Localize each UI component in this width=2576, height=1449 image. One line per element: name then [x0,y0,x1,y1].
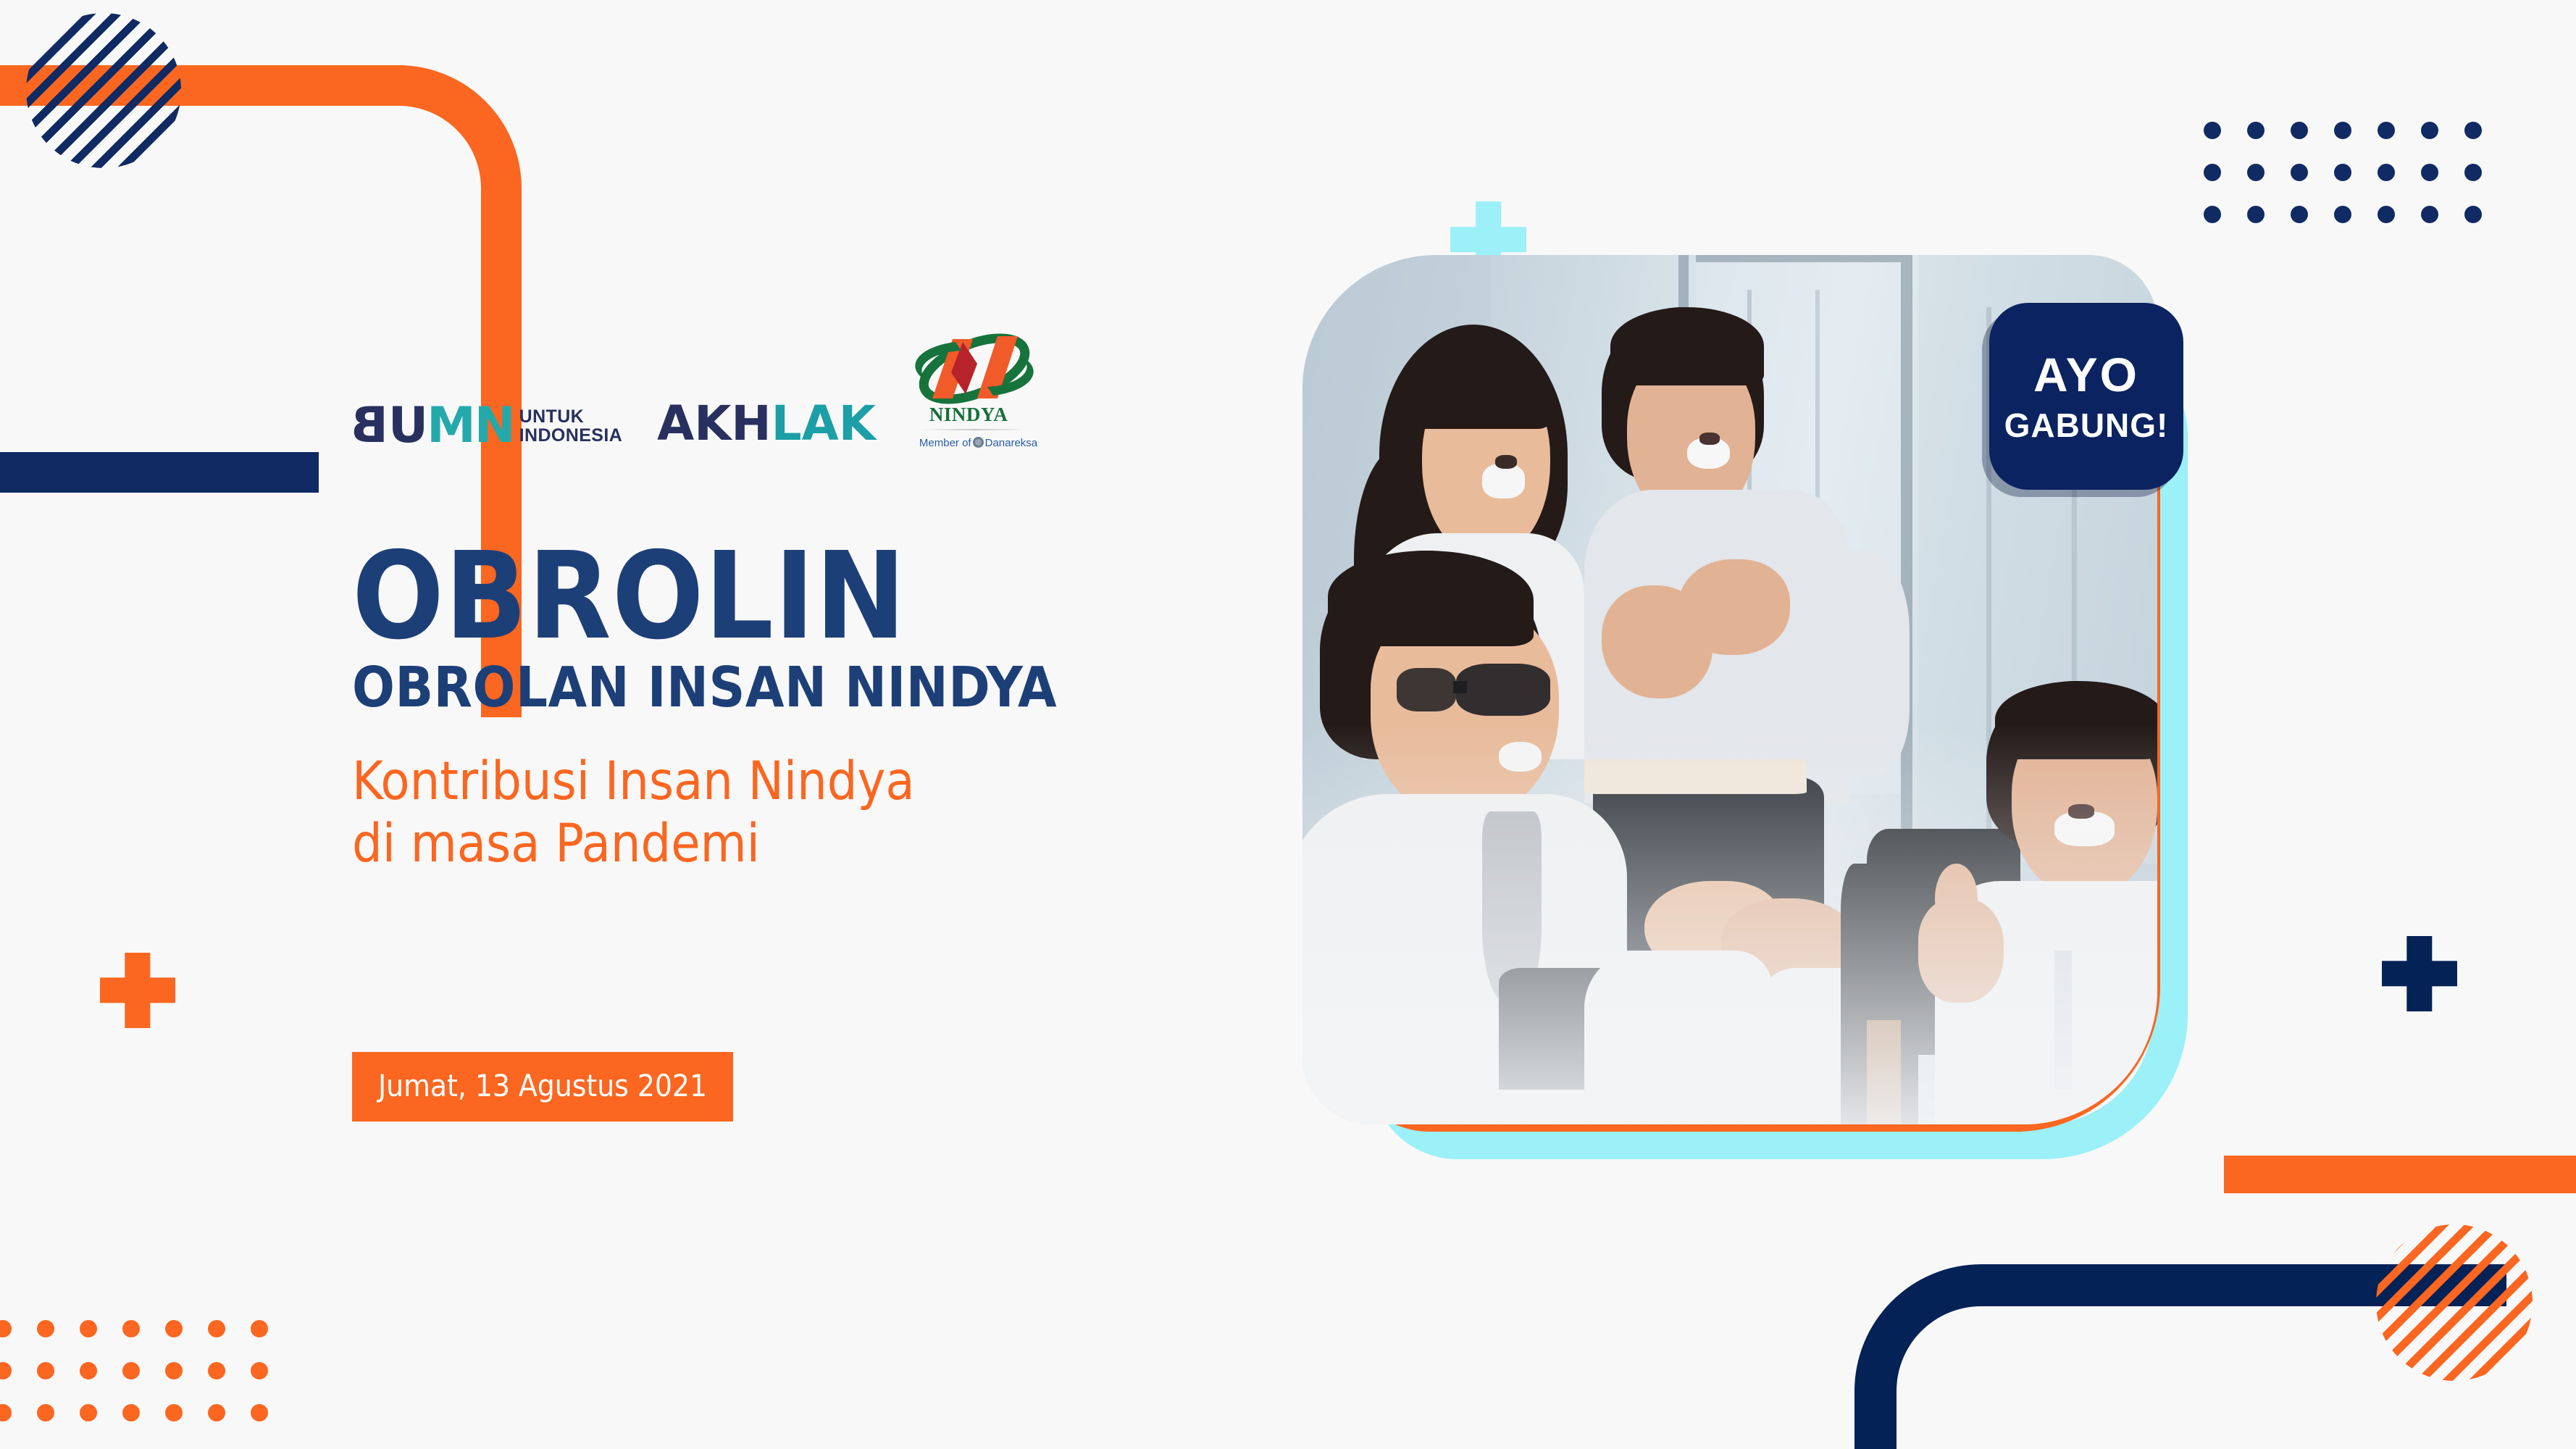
page-title: OBROLIN [352,539,1057,654]
striped-circle-icon-navy [26,13,181,168]
page-description: Kontribusi Insan Nindya di masa Pandemi [352,751,1057,874]
decor-orange-frame-bottomright [2224,1156,2576,1449]
nindya-divider [921,429,1029,430]
event-date-badge: Jumat, 13 Agustus 2021 [352,1052,733,1122]
nindya-logo: NINDYA Member ofDanareksa [911,326,1038,451]
bumn-tagline: UNTUK INDONESIA [519,407,623,446]
bumn-wordmark: BUMN [352,401,514,451]
bumn-wordmark-bu: BU [352,401,427,451]
poster-canvas: BUMN UNTUK INDONESIA AKHLAK NINDYA Memb [0,0,2576,1449]
plus-icon-navy [2382,936,2457,1011]
description-line-2: di masa Pandemi [352,813,1057,874]
join-cta-line2: GABUNG! [2004,409,2169,442]
dot-grid-navy [2204,122,2482,223]
bumn-tagline-line1: UNTUK [519,407,623,427]
nindya-member-of-label: Member of [919,437,971,449]
plus-icon-orange [100,953,175,1028]
bumn-tagline-line2: INDONESIA [519,426,623,446]
decor-navy-frame-bottomright [1854,1264,2506,1449]
bumn-wordmark-mn: MN [427,397,514,454]
akhlak-part2: LAK [771,396,876,451]
join-cta-line1: AYO [2033,351,2139,398]
danareksa-icon [973,437,984,448]
partner-logo-strip: BUMN UNTUK INDONESIA AKHLAK NINDYA Memb [352,326,1038,451]
join-cta-badge[interactable]: AYO GABUNG! [1989,303,2183,490]
bumn-logo: BUMN UNTUK INDONESIA [352,401,622,451]
nindya-parent-label: Danareksa [985,437,1038,449]
akhlak-logo: AKHLAK [657,400,876,451]
dot-grid-orange [0,1320,268,1421]
headline-block: OBROLIN OBROLAN INSAN NINDYA Kontribusi … [352,539,1057,874]
photo-collage: AYO GABUNG! [1276,255,2218,1240]
striped-circle-icon-orange [2376,1224,2533,1381]
description-line-1: Kontribusi Insan Nindya [352,751,1057,812]
page-subtitle: OBROLAN INSAN NINDYA [352,660,1057,716]
decor-navy-frame-topleft [0,0,319,493]
nindya-emblem-icon [911,326,1038,412]
nindya-member-line: Member ofDanareksa [919,437,1037,449]
akhlak-part1: AKH [657,396,771,451]
nindya-wordmark: NINDYA [929,404,1008,426]
